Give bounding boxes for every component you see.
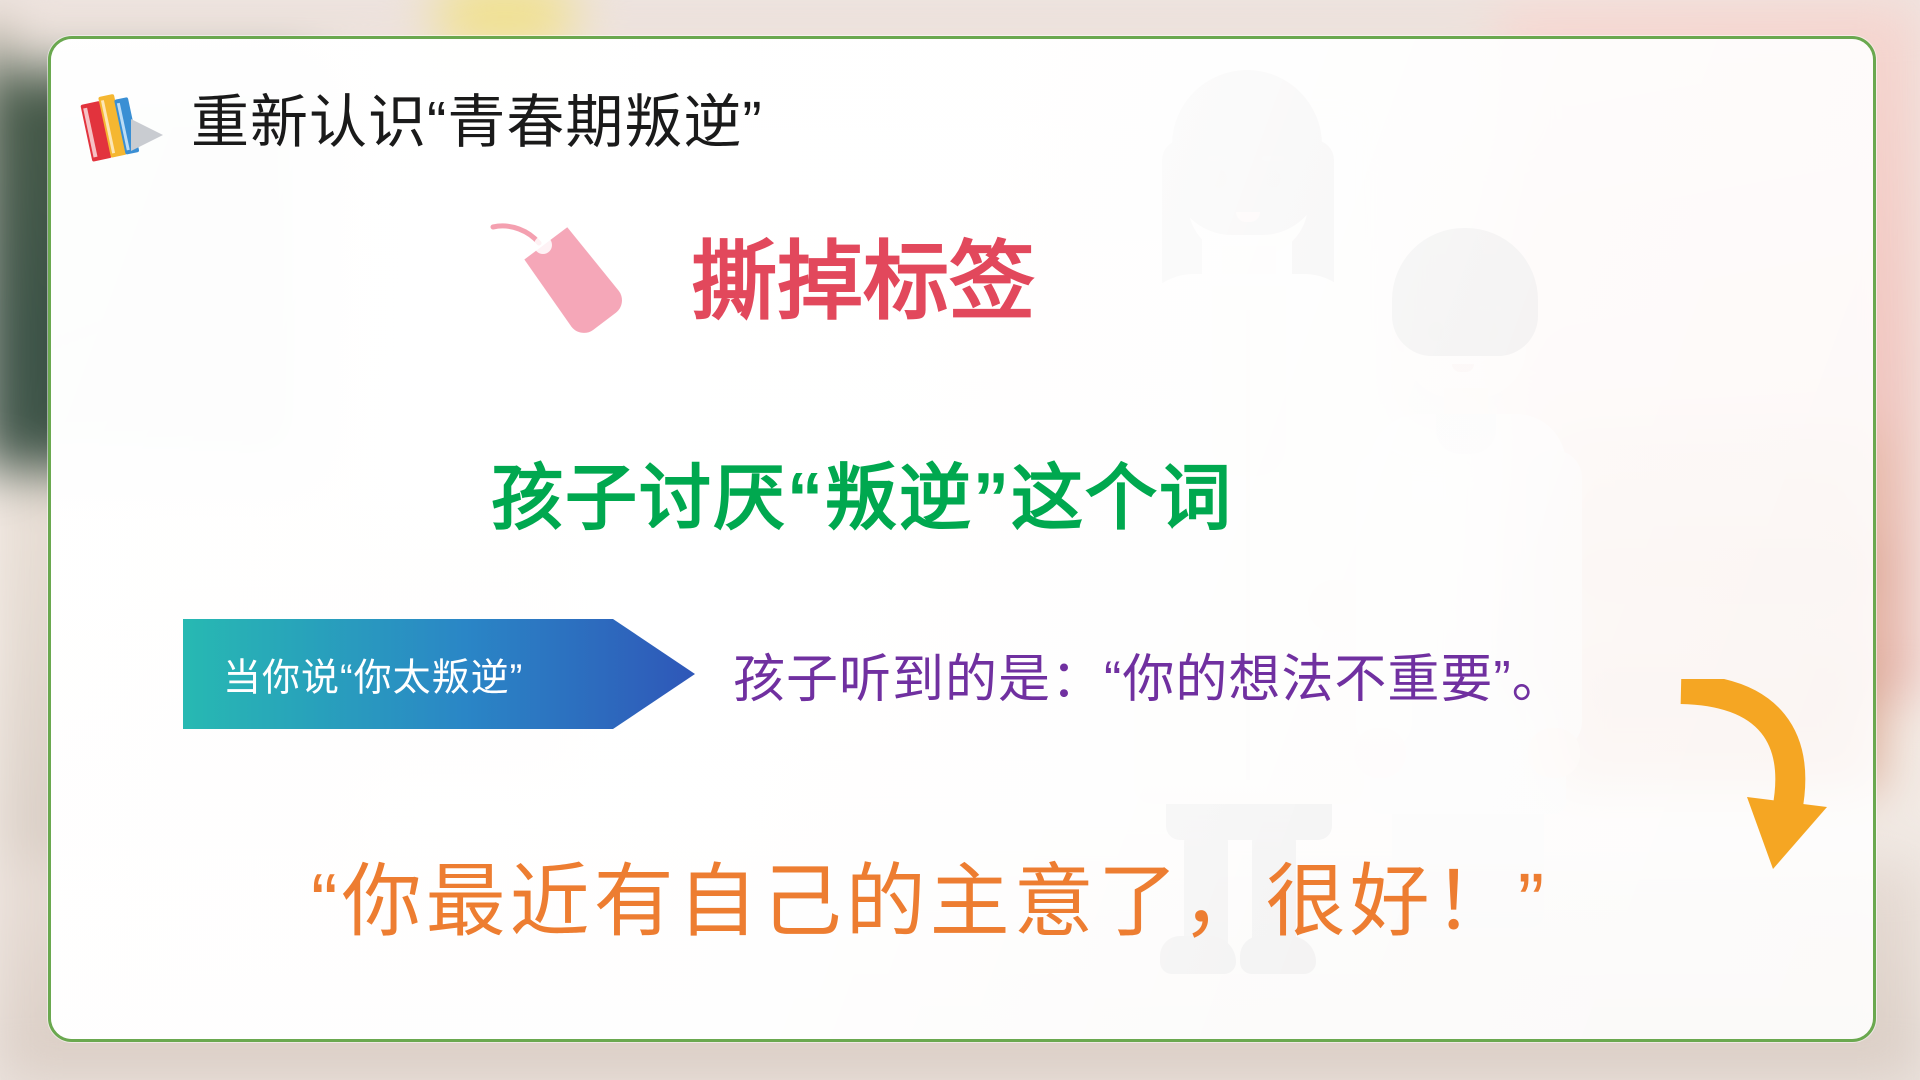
banner-label: 当你说“你太叛逆” (223, 647, 523, 702)
books-icon (73, 79, 169, 167)
quote-text: “你最近有自己的主意了，很好！” (311, 837, 1548, 953)
subtitle-text: 孩子讨厌“叛逆”这个词 (491, 439, 1233, 544)
price-tag-icon (481, 217, 631, 347)
banner-text: 孩子听到的是：“你的想法不重要”。 (733, 637, 1565, 712)
tag-headline-row: 撕掉标签 (481, 217, 1035, 347)
slide-canvas: 重新认识“青春期叛逆” 撕掉标签 孩子讨厌“叛逆”这个词 (0, 0, 1920, 1080)
slide-header: 重新认识“青春期叛逆” (73, 79, 763, 167)
right-arrow-banner-icon: 当你说“你太叛逆” (183, 611, 703, 737)
curved-down-arrow-icon (1651, 679, 1831, 879)
banner-row: 当你说“你太叛逆” 孩子听到的是：“你的想法不重要”。 (183, 611, 1565, 737)
page-title: 重新认识“青春期叛逆” (191, 94, 763, 152)
slide-card: 重新认识“青春期叛逆” 撕掉标签 孩子讨厌“叛逆”这个词 (48, 36, 1876, 1042)
tag-title: 撕掉标签 (691, 239, 1035, 325)
